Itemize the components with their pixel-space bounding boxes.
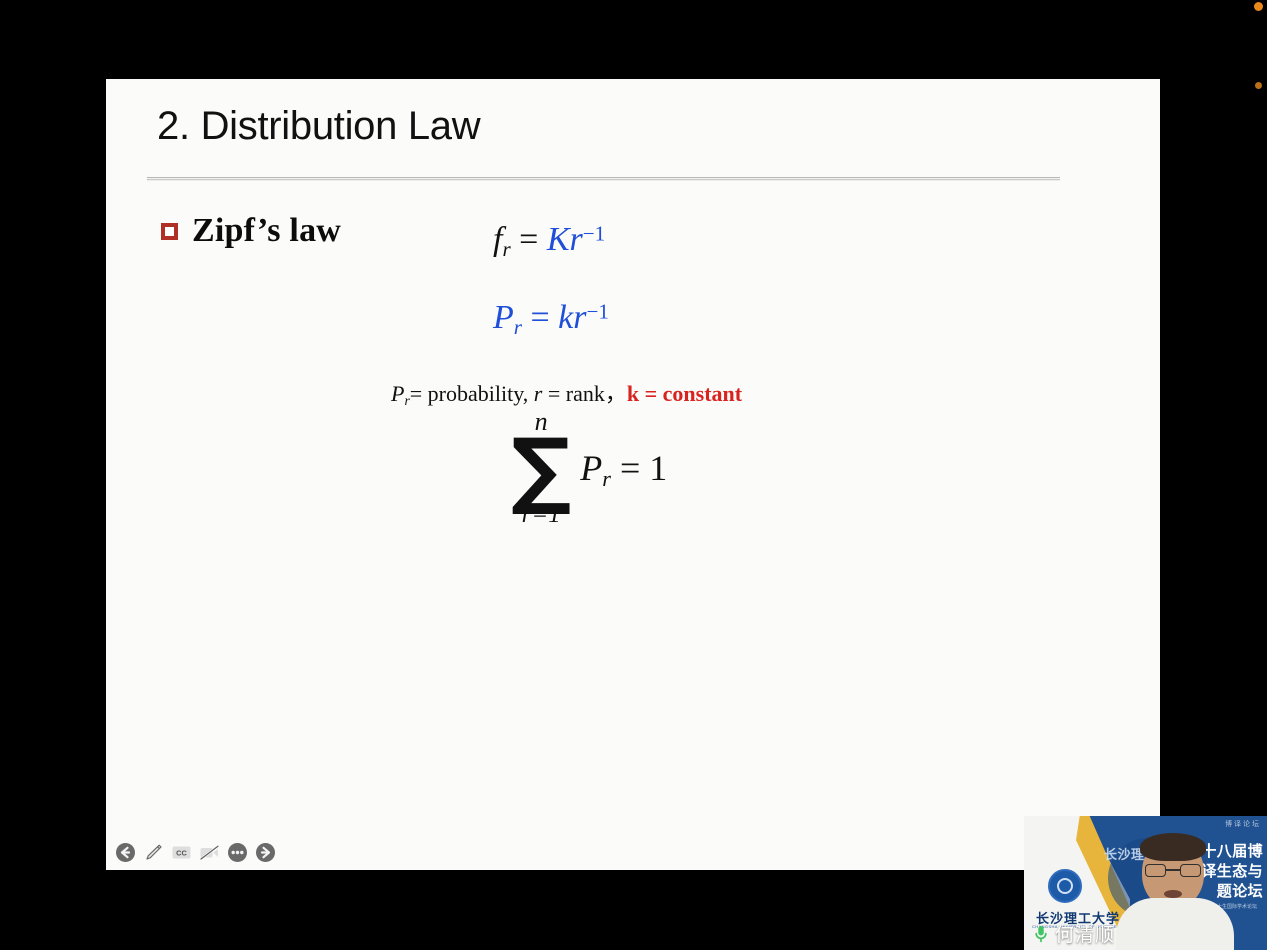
stop-video-icon[interactable]: [199, 842, 220, 863]
slide-toolbar[interactable]: CC: [110, 839, 281, 866]
participant-name-bar: 何清顺: [1024, 918, 1125, 950]
bullet-item-zipfs-law: Zipf’s law: [161, 212, 341, 250]
more-options-icon[interactable]: [227, 842, 248, 863]
eq-fr-equals: =: [519, 221, 538, 258]
legend-pr-var: P: [391, 381, 404, 406]
summation-body: Pr = 1: [580, 447, 667, 492]
bullet-square-icon: [161, 223, 178, 240]
equation-probability: Pr = kr−1: [493, 299, 609, 340]
title-divider: [147, 177, 1060, 182]
pen-annotate-icon[interactable]: [143, 842, 164, 863]
video-top-note: 博译论坛: [1225, 819, 1261, 829]
eq-pr-lhs-var: P: [493, 299, 514, 336]
equation-frequency: fr = Kr−1: [493, 221, 605, 262]
participant-name: 何清顺: [1055, 920, 1115, 947]
legend-r-text: = rank，: [542, 381, 627, 406]
summation-body-sub: r: [602, 466, 611, 491]
participant-video-feed: [1120, 836, 1228, 950]
summation-lower-limit: r=1: [522, 502, 561, 527]
equation-legend: Pr= probability, r = rank，k = constant: [391, 376, 742, 409]
microphone-icon[interactable]: [1034, 925, 1048, 943]
equation-summation: n ∑ r=1 Pr = 1: [511, 409, 667, 527]
closed-captions-icon[interactable]: CC: [171, 842, 192, 863]
summation-body-var: P: [580, 448, 602, 488]
eq-pr-exponent: −1: [587, 299, 609, 323]
eq-fr-lhs-sub: r: [502, 237, 510, 261]
recording-dot-primary: [1254, 2, 1263, 11]
eq-pr-coefficient: k: [558, 299, 573, 336]
university-emblem-icon: [1048, 869, 1082, 903]
summation-operator: n ∑ r=1: [511, 409, 571, 527]
next-slide-icon[interactable]: [255, 842, 276, 863]
summation-body-rest: = 1: [611, 448, 667, 488]
sigma-icon: ∑: [511, 433, 571, 505]
legend-constant-text: k = constant: [627, 381, 742, 406]
eq-pr-variable: r: [573, 299, 586, 336]
page-title: 2. Distribution Law: [157, 104, 480, 149]
legend-pr-text: = probability,: [410, 381, 534, 406]
svg-text:CC: CC: [176, 849, 187, 858]
eq-pr-lhs-sub: r: [514, 315, 522, 339]
eq-fr-exponent: −1: [583, 221, 605, 245]
eq-fr-coefficient: K: [547, 221, 570, 258]
eq-pr-equals: =: [530, 299, 549, 336]
eq-fr-variable: r: [570, 221, 583, 258]
glasses-icon: [1145, 864, 1201, 877]
bullet-item-label: Zipf’s law: [192, 212, 341, 250]
previous-slide-icon[interactable]: [115, 842, 136, 863]
video-participant-tile[interactable]: 长沙理工大学 CHANGSHA UNIVERSITY OF SCIENCE & …: [1024, 816, 1267, 950]
recording-dot-secondary: [1255, 82, 1262, 89]
presentation-slide: 2. Distribution Law Zipf’s law fr = Kr−1…: [106, 79, 1160, 870]
